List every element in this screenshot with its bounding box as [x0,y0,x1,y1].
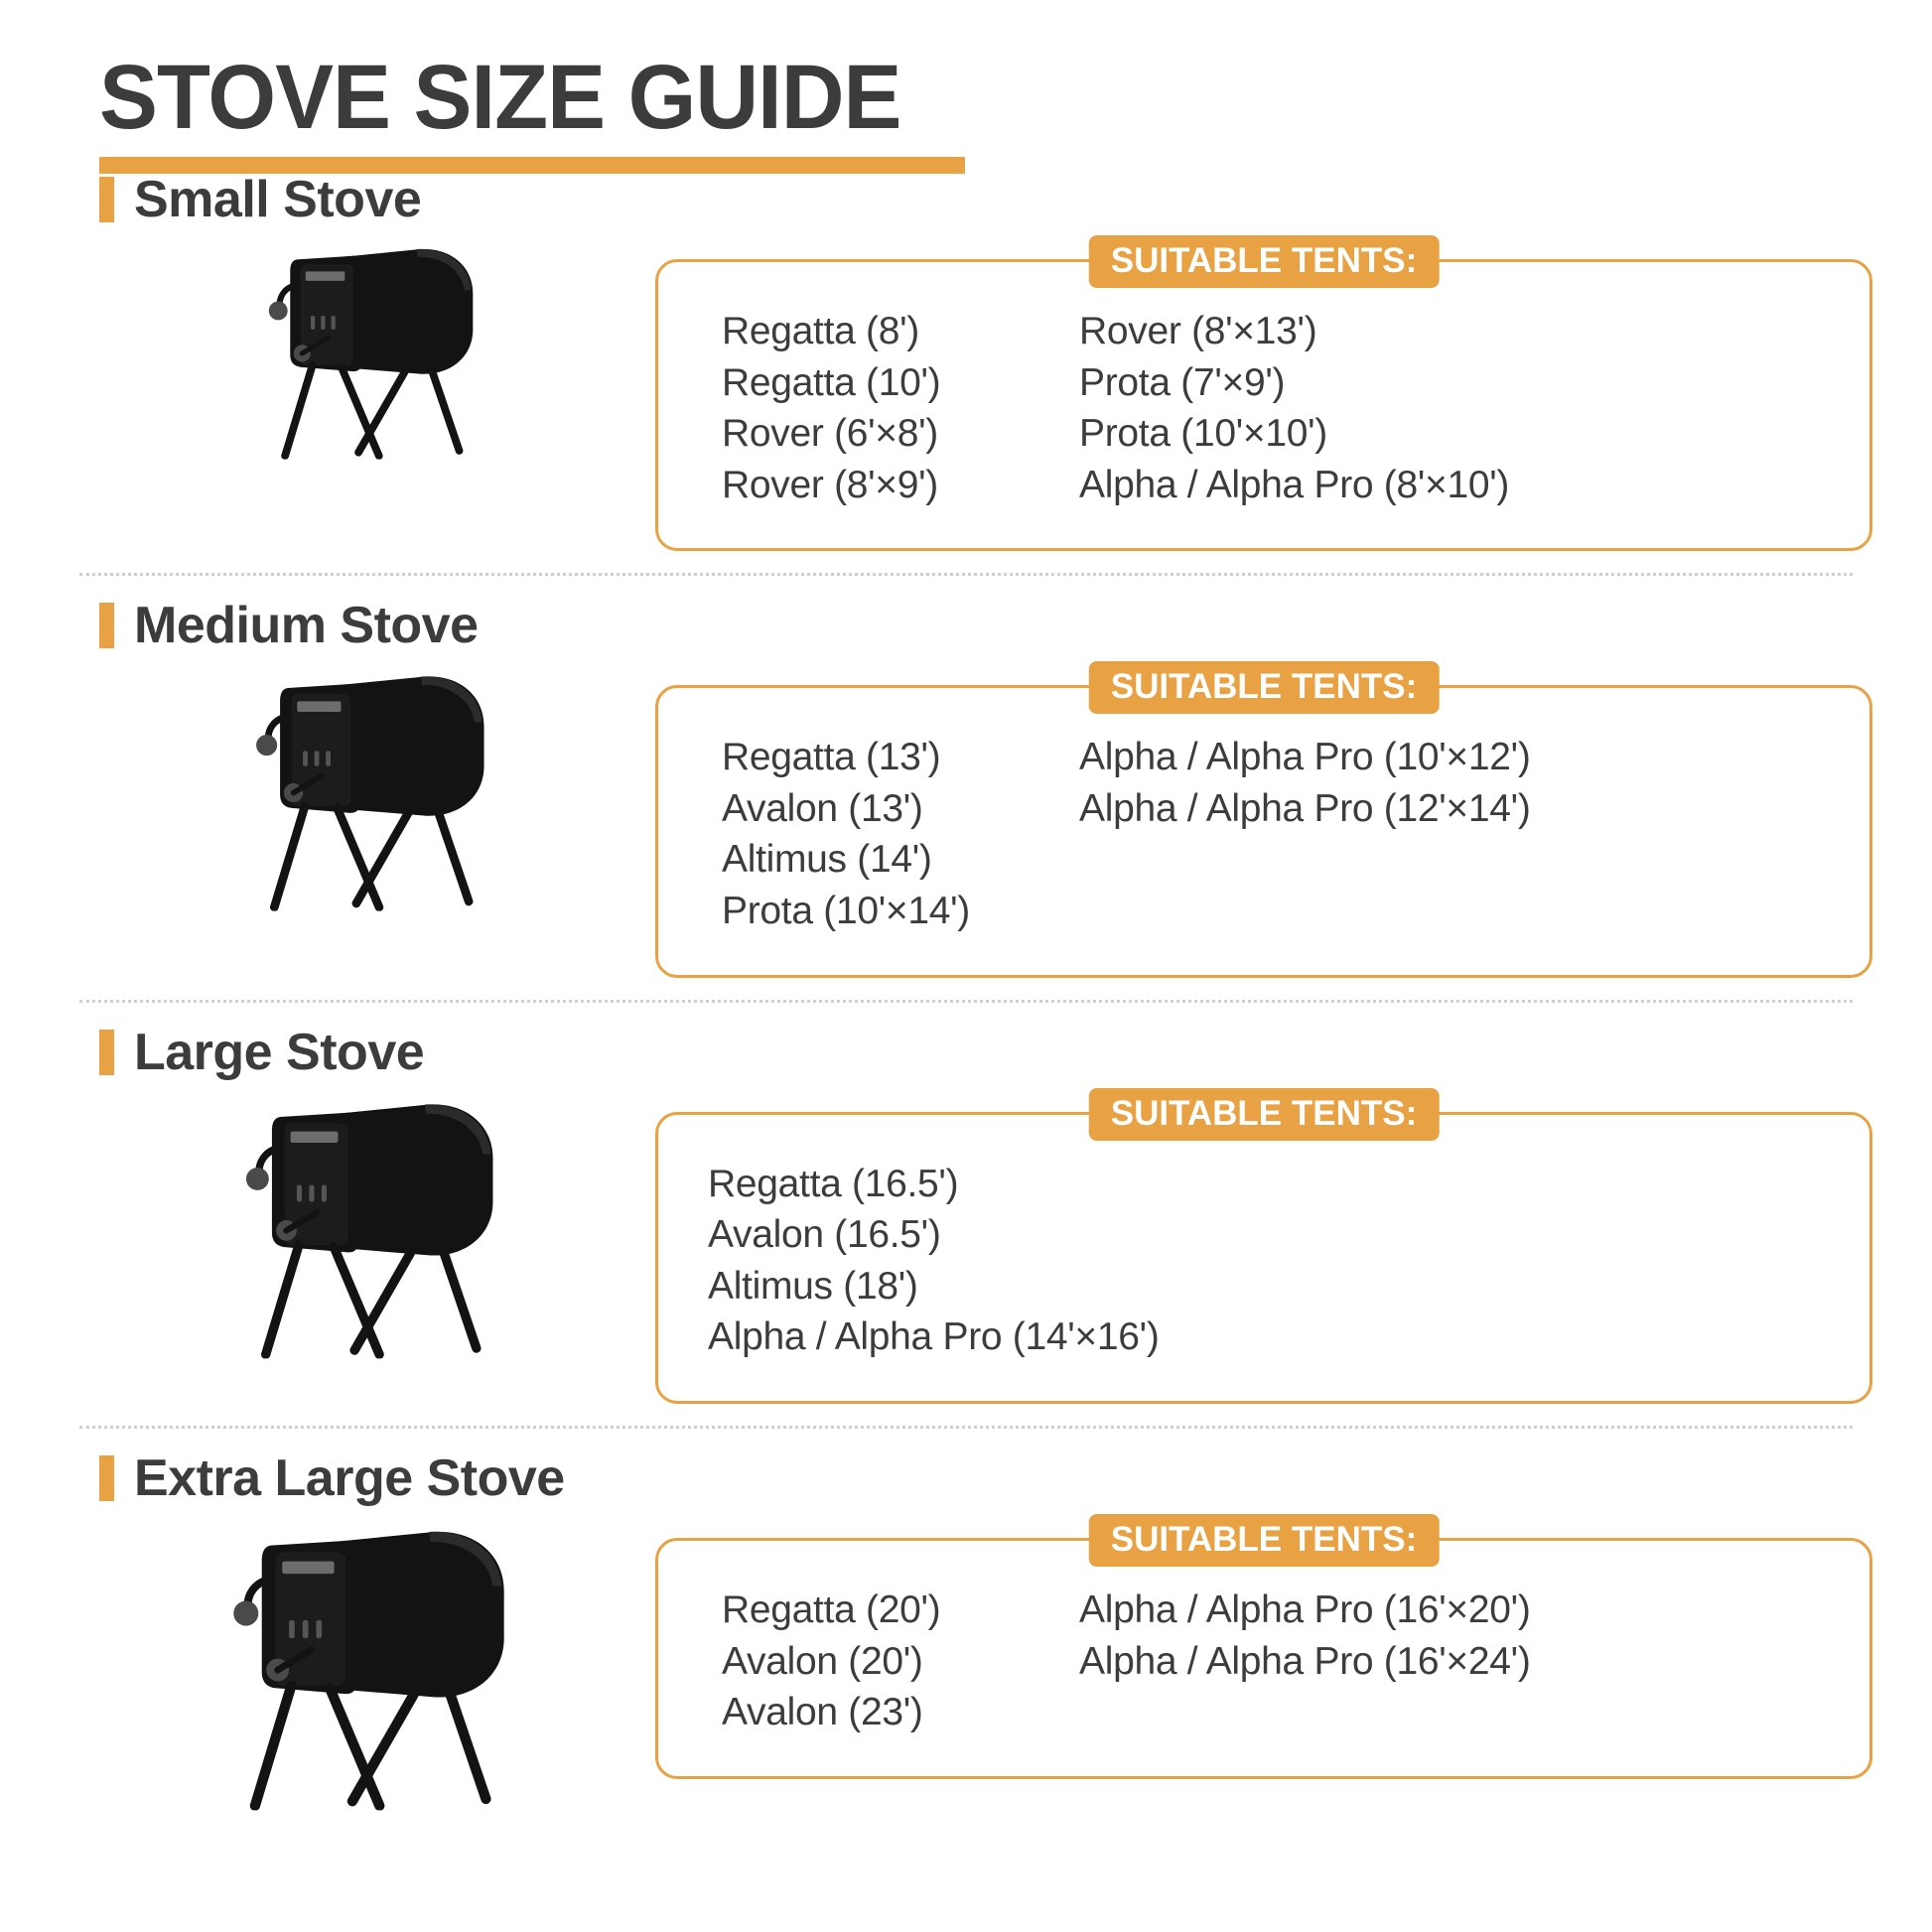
suitable-tents-badge: SUITABLE TENTS: [1089,1088,1440,1141]
tent-list-item: Alpha / Alpha Pro (8'×10') [1079,462,1826,509]
heading-accent-bar [99,603,114,648]
stove-section: Large Stove [60,1027,1872,1404]
tent-list-item: Alpha / Alpha Pro (14'×16') [708,1313,1026,1361]
tent-list-item: Regatta (10') [722,359,1039,407]
suitable-tents-card: SUITABLE TENTS:Regatta (20')Avalon (20')… [655,1538,1872,1779]
stove-image-column [99,1082,655,1348]
suitable-tents-column: SUITABLE TENTS:Regatta (16.5')Avalon (16… [655,1082,1872,1404]
tent-list-item: Rover (8'×9') [722,462,1039,509]
suitable-tents-column: SUITABLE TENTS:Regatta (20')Avalon (20')… [655,1508,1872,1779]
tent-list-item: Regatta (8') [722,308,1039,355]
tent-list-item: Regatta (13') [722,734,1039,781]
heading-accent-bar [99,1455,114,1501]
tent-list-column: Rover (8'×13')Prota (7'×9')Prota (10'×10… [1079,308,1826,508]
suitable-tents-badge: SUITABLE TENTS: [1089,235,1440,288]
tent-list-item: Avalon (23') [722,1689,1039,1736]
tent-list-column: Regatta (16.5')Avalon (16.5')Altimus (18… [708,1161,1026,1361]
tent-list-item: Alpha / Alpha Pro (12'×14') [1079,785,1826,833]
extra-large-stove-image [207,1516,547,1810]
title-block: STOVE SIZE GUIDE [60,0,1872,174]
stove-image-column [99,229,655,495]
stove-section: Small Stove [60,174,1872,551]
tent-list-column: Regatta (20')Avalon (20')Avalon (23') [722,1587,1039,1736]
stove-size-guide-page: STOVE SIZE GUIDE Small Stove [0,0,1932,1932]
tent-list-item: Rover (6'×8') [722,410,1039,458]
section-title: Medium Stove [134,600,479,651]
tent-list-column: Regatta (13')Avalon (13')Altimus (14')Pr… [722,734,1039,934]
tent-list-item: Prota (10'×14') [722,888,1039,935]
tent-list-column: Regatta (8')Regatta (10')Rover (6'×8')Ro… [722,308,1039,508]
tent-list-item: Rover (8'×13') [1079,308,1826,355]
section-body: SUITABLE TENTS:Regatta (16.5')Avalon (16… [99,1082,1872,1404]
section-divider [79,1426,1853,1429]
section-heading: Large Stove [99,1027,1872,1078]
section-heading: Small Stove [99,174,1872,225]
tent-list-group: Regatta (13')Avalon (13')Altimus (14')Pr… [702,734,1826,934]
suitable-tents-column: SUITABLE TENTS:Regatta (8')Regatta (10')… [655,229,1872,551]
suitable-tents-badge: SUITABLE TENTS: [1089,1514,1440,1567]
tent-list-item: Regatta (16.5') [708,1161,1026,1208]
section-body: SUITABLE TENTS:Regatta (13')Avalon (13')… [99,655,1872,977]
stove-section: Extra Large Stove [60,1452,1872,1779]
tent-list-item: Regatta (20') [722,1587,1039,1634]
page-title: STOVE SIZE GUIDE [99,52,1802,143]
heading-accent-bar [99,1030,114,1075]
large-stove-image [222,1090,532,1358]
section-heading: Extra Large Stove [99,1452,1872,1504]
sections-container: Small Stove [60,174,1872,1779]
heading-accent-bar [99,177,114,222]
suitable-tents-card: SUITABLE TENTS:Regatta (16.5')Avalon (16… [655,1112,1872,1404]
stove-image-column [99,1508,655,1774]
section-title: Small Stove [134,174,421,225]
suitable-tents-card: SUITABLE TENTS:Regatta (8')Regatta (10')… [655,259,1872,551]
section-heading: Medium Stove [99,600,1872,651]
section-divider [79,1000,1853,1003]
tent-list-group: Regatta (16.5')Avalon (16.5')Altimus (18… [702,1161,1826,1361]
tent-list-item: Prota (10'×10') [1079,410,1826,458]
tent-list-item: Altimus (18') [708,1263,1026,1311]
tent-list-item: Alpha / Alpha Pro (10'×12') [1079,734,1826,781]
stove-section: Medium Stove [60,600,1872,977]
tent-list-item: Avalon (20') [722,1638,1039,1686]
tent-list-item: Alpha / Alpha Pro (16'×20') [1079,1587,1826,1634]
tent-list-column: Alpha / Alpha Pro (16'×20')Alpha / Alpha… [1079,1587,1826,1736]
section-body: SUITABLE TENTS:Regatta (8')Regatta (10')… [99,229,1872,551]
stove-image-column [99,655,655,921]
tent-list-item: Avalon (13') [722,785,1039,833]
tent-list-item: Altimus (14') [722,836,1039,884]
suitable-tents-badge: SUITABLE TENTS: [1089,661,1440,714]
section-divider [79,573,1853,576]
section-title: Extra Large Stove [134,1452,565,1504]
tent-list-item: Avalon (16.5') [708,1211,1026,1259]
medium-stove-image [234,663,520,911]
tent-list-group: Regatta (20')Avalon (20')Avalon (23')Alp… [702,1587,1826,1736]
tent-list-column: Alpha / Alpha Pro (10'×12')Alpha / Alpha… [1079,734,1826,934]
tent-list-item: Prota (7'×9') [1079,359,1826,407]
section-body: SUITABLE TENTS:Regatta (20')Avalon (20')… [99,1508,1872,1779]
tent-list-item: Alpha / Alpha Pro (16'×24') [1079,1638,1826,1686]
small-stove-image [249,237,505,460]
section-title: Large Stove [134,1027,424,1078]
suitable-tents-column: SUITABLE TENTS:Regatta (13')Avalon (13')… [655,655,1872,977]
tent-list-group: Regatta (8')Regatta (10')Rover (6'×8')Ro… [702,308,1826,508]
suitable-tents-card: SUITABLE TENTS:Regatta (13')Avalon (13')… [655,685,1872,977]
